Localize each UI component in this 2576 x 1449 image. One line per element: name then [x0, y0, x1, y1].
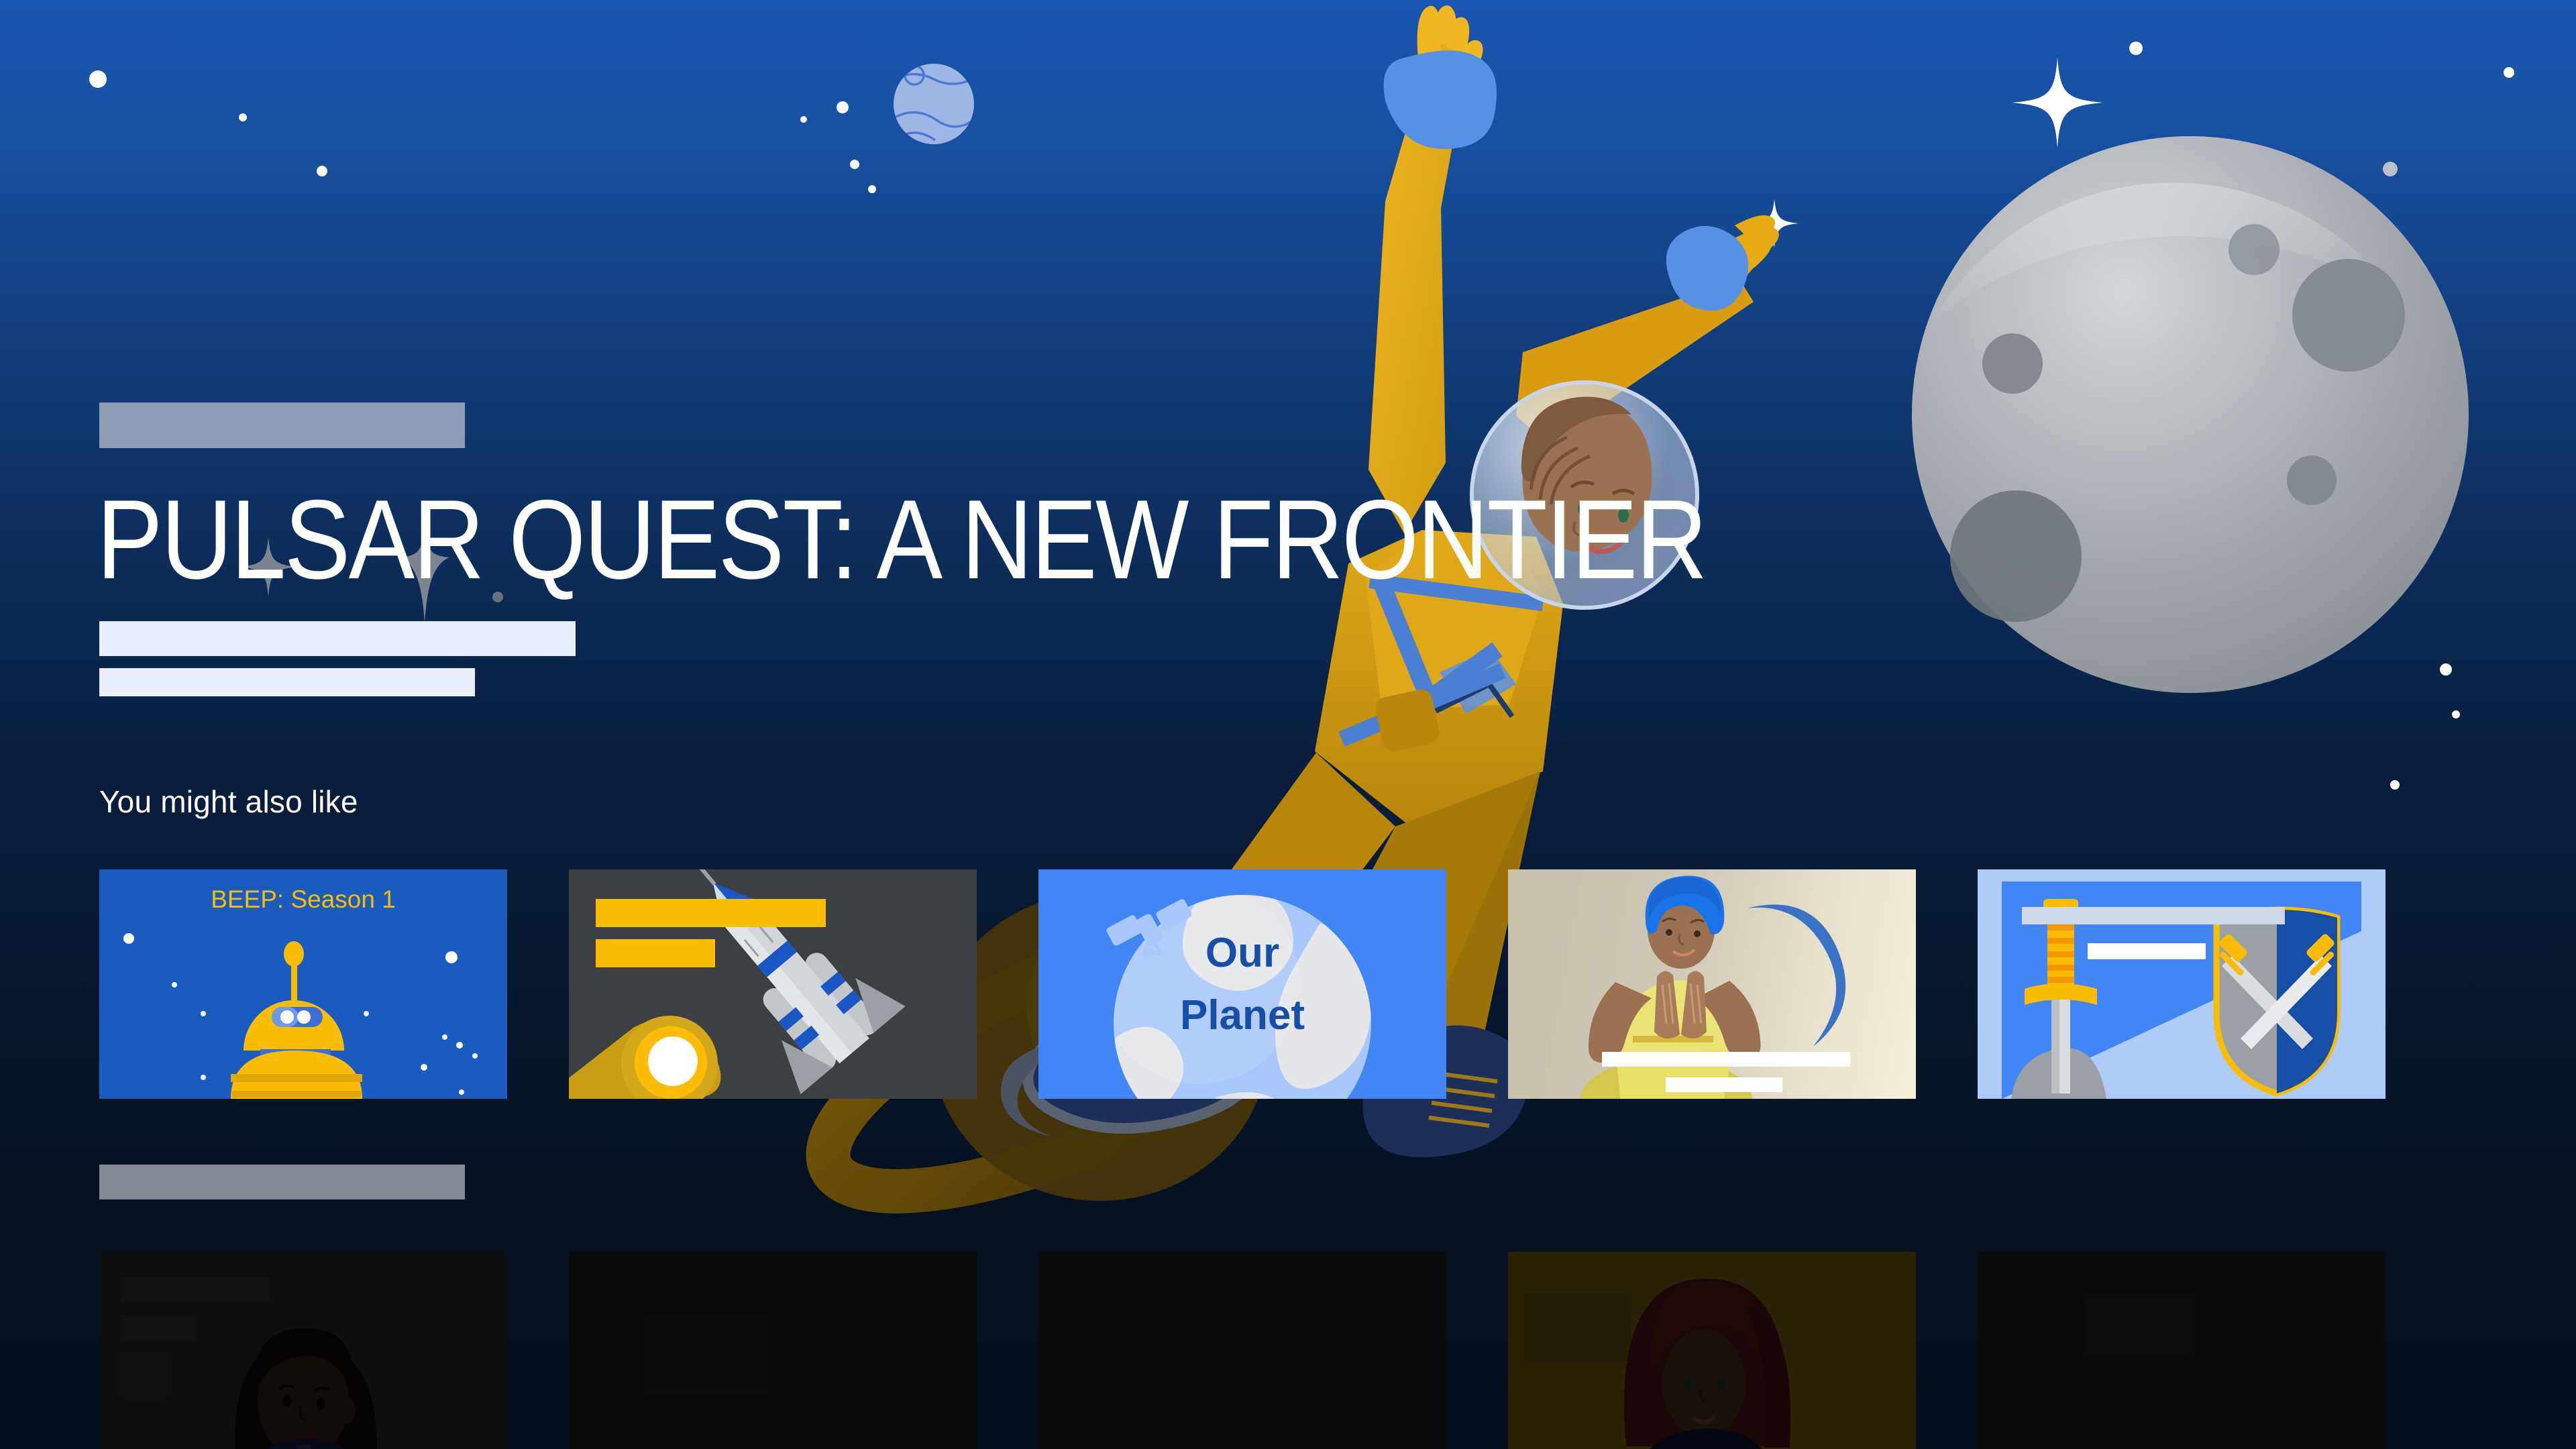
four-point-sparkle: [1750, 57, 2103, 248]
meditation-illustration: [1508, 869, 1916, 1099]
eyebrow-placeholder-bar: [99, 402, 465, 448]
space-background-art: [0, 0, 2576, 1449]
card-title-our-planet-line-1: Our: [1205, 930, 1279, 976]
card-placeholder-bar-1: [2022, 907, 2285, 924]
card-placeholder-bar-1: [1602, 1052, 1850, 1067]
recommendations-row-1: BEEP: Season 1: [99, 869, 2385, 1099]
card-placeholder-bar-1: [596, 899, 826, 927]
card-row2-placeholder-b[interactable]: [1038, 1252, 1446, 1449]
blank-placeholder-illustration: [569, 1252, 977, 1449]
card-meditation[interactable]: [1508, 869, 1916, 1099]
card-placeholder-bar-2: [1666, 1077, 1782, 1092]
card-row2-placeholder-c[interactable]: [1978, 1252, 2385, 1449]
portrait-dark-illustration: [99, 1252, 507, 1449]
card-title-beep: BEEP: Season 1: [99, 885, 507, 914]
card-row2-portrait-dark[interactable]: [99, 1252, 507, 1449]
subtitle-placeholder-bar-1: [99, 621, 576, 656]
portrait-red-illustration: [1508, 1252, 1916, 1449]
hero-page: PULSAR QUEST: A NEW FRONTIER You might a…: [0, 0, 2576, 1449]
earth-illustration: Our Planet: [1038, 869, 1446, 1099]
blue-planet: [892, 64, 978, 144]
recommendations-row-2: [99, 1252, 2385, 1449]
card-title-our-planet-line-2: Planet: [1180, 992, 1305, 1038]
subtitle-placeholder-bar-2: [99, 668, 475, 696]
hero-text-block: PULSAR QUEST: A NEW FRONTIER: [99, 402, 2045, 696]
card-our-planet[interactable]: Our Planet: [1038, 869, 1446, 1099]
row-2-label-placeholder: [99, 1165, 465, 1199]
page-title: PULSAR QUEST: A NEW FRONTIER: [97, 483, 1811, 596]
rocket-illustration: [569, 869, 977, 1099]
sword-shield-illustration: [1978, 869, 2385, 1099]
card-sword-shield[interactable]: [1978, 869, 2385, 1099]
blank-placeholder-illustration-2: [1038, 1252, 1446, 1449]
card-rocket-launch[interactable]: [569, 869, 977, 1099]
card-placeholder-bar-2: [2088, 943, 2206, 959]
row-label-you-might-also-like: You might also like: [99, 784, 358, 820]
blank-placeholder-illustration-3: [1978, 1252, 2385, 1449]
card-placeholder-bar-2: [596, 939, 715, 967]
card-row2-placeholder-a[interactable]: [569, 1252, 977, 1449]
card-row2-portrait-red[interactable]: [1508, 1252, 1916, 1449]
card-beep-season-1[interactable]: BEEP: Season 1: [99, 869, 507, 1099]
